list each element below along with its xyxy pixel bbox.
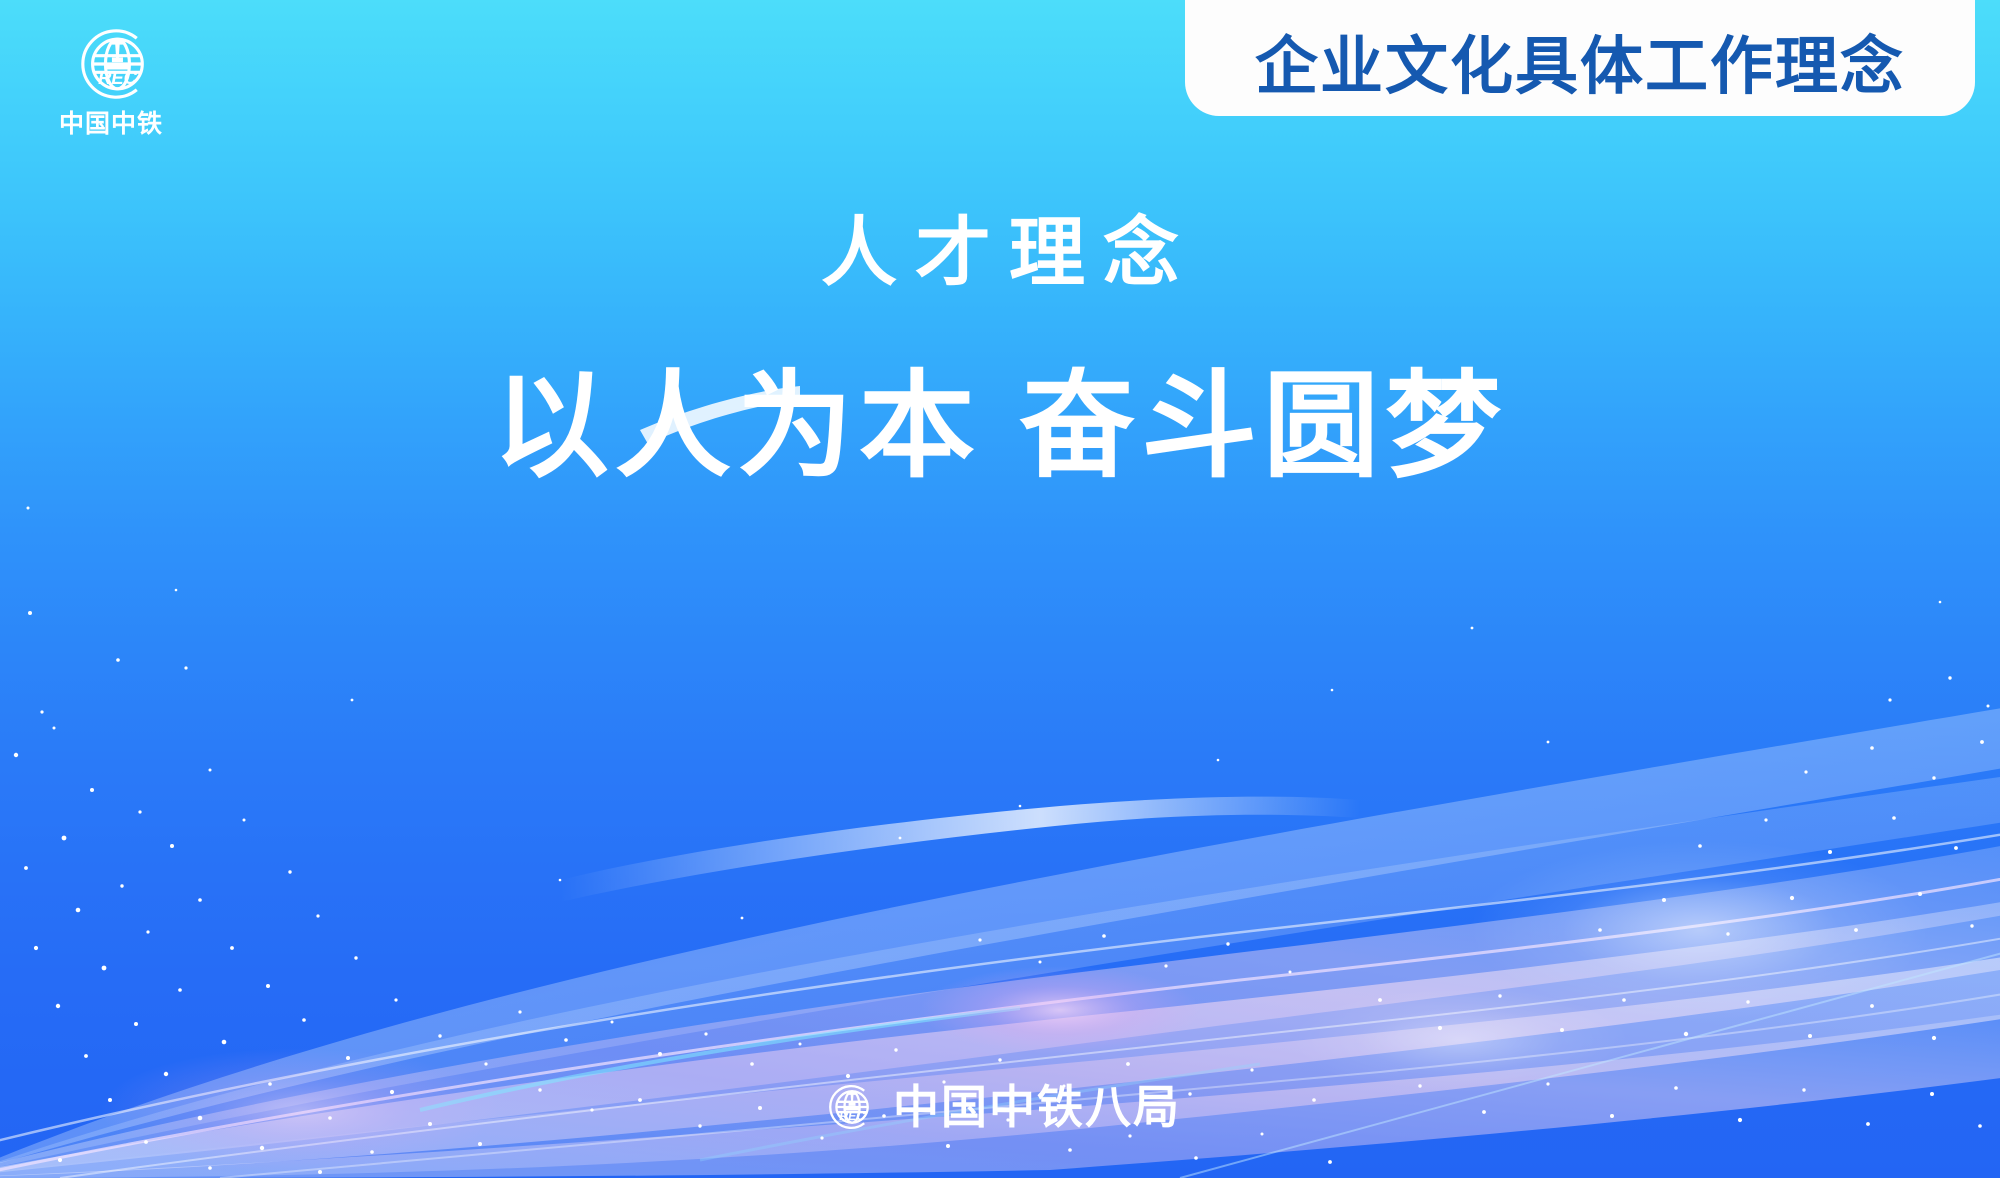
- svg-text:REC: REC: [839, 1109, 865, 1123]
- svg-text:REC: REC: [98, 67, 138, 88]
- brand-name-footer: 中国中铁八局: [893, 1084, 1181, 1130]
- main-headline: 以人为本 奋斗圆梦: [0, 362, 2000, 492]
- slide-canvas: REC 中国中铁 企业文化具体工作理念 人才理念 以人为本 奋斗圆梦: [0, 0, 2000, 1178]
- brand-logo-topleft: REC 中国中铁: [46, 18, 176, 137]
- section-eyebrow: 人才理念: [0, 212, 2000, 296]
- sparkle-particle-field: [0, 0, 2000, 1178]
- brand-name-topleft: 中国中铁: [59, 112, 163, 137]
- title-badge: 企业文化具体工作理念: [1185, 0, 1975, 116]
- background-decoration: [0, 0, 2000, 1178]
- crec-globe-logo-icon: REC: [65, 18, 157, 110]
- brand-logo-footer: REC 中国中铁八局: [0, 1078, 2000, 1136]
- main-content: 人才理念 以人为本 奋斗圆梦: [0, 212, 2000, 492]
- title-badge-text: 企业文化具体工作理念: [1255, 34, 1905, 100]
- crec-globe-logo-icon: REC: [819, 1078, 877, 1136]
